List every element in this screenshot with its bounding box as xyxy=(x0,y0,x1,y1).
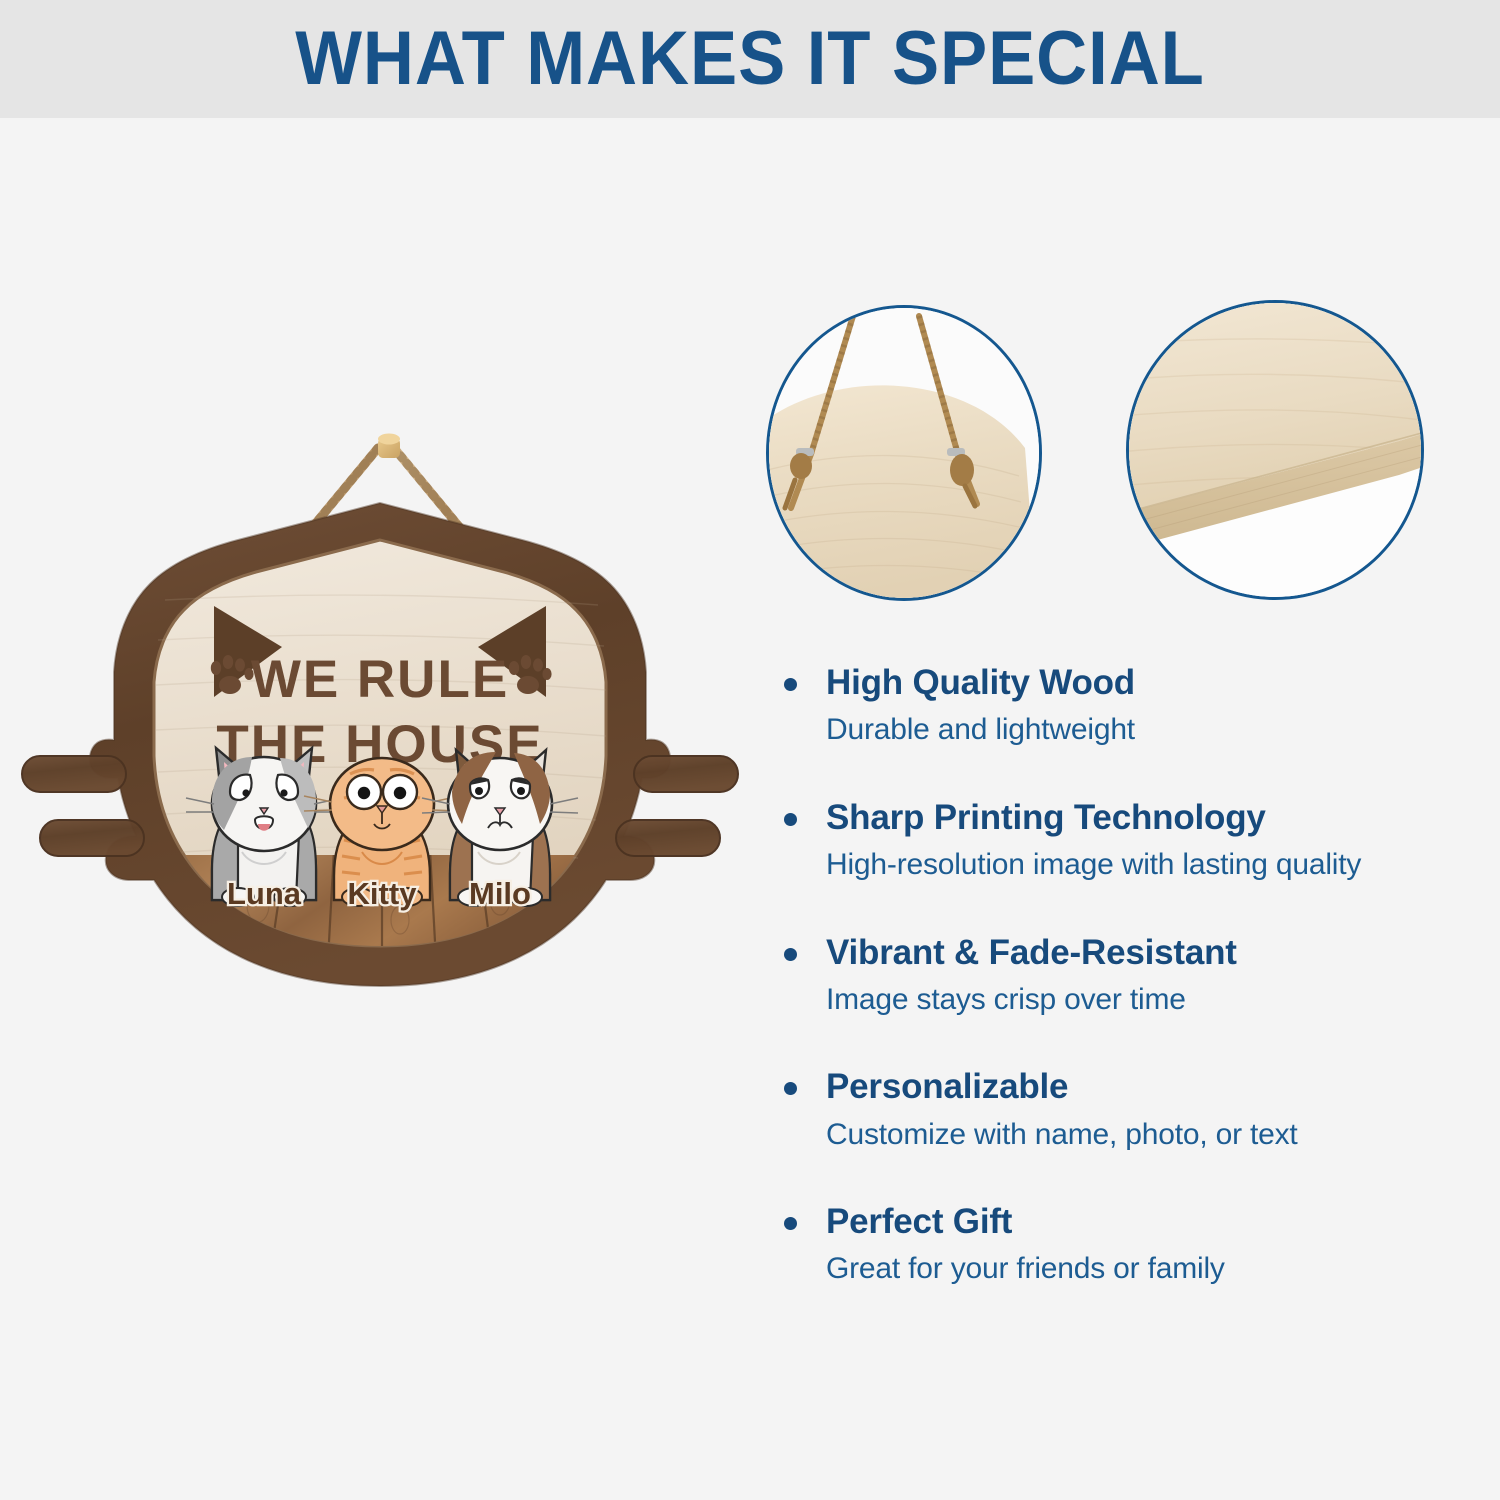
rope-hanger-photo xyxy=(769,308,1042,601)
feature-item: High Quality Wood Durable and lightweigh… xyxy=(770,662,1470,751)
feature-title: Sharp Printing Technology xyxy=(826,797,1470,838)
detail-photo-wood-edge xyxy=(1126,300,1424,600)
pet-name-labels: Luna Kitty Milo xyxy=(227,876,531,911)
wooden-peg-icon xyxy=(378,434,400,459)
feature-title: Vibrant & Fade-Resistant xyxy=(826,932,1470,973)
bullet-icon xyxy=(784,1217,797,1230)
knot-right xyxy=(950,454,974,486)
detail-photo-rope-hanger xyxy=(766,305,1042,601)
feature-title: High Quality Wood xyxy=(826,662,1470,703)
sign-headline-line1: WE RULE xyxy=(251,650,509,709)
pet-name-luna: Luna xyxy=(227,876,302,911)
feature-title: Personalizable xyxy=(826,1066,1470,1107)
header-banner: WHAT MAKES IT SPECIAL xyxy=(0,0,1500,118)
feature-item: Perfect Gift Great for your friends or f… xyxy=(770,1201,1470,1290)
pet-name-kitty: Kitty xyxy=(348,876,418,911)
sign-illustration: WE RULE THE HOUSE xyxy=(0,400,760,1120)
bullet-icon xyxy=(784,813,797,826)
feature-subtitle: Durable and lightweight xyxy=(826,710,1470,751)
bullet-icon xyxy=(784,1082,797,1095)
feature-subtitle: Great for your friends or family xyxy=(826,1249,1470,1290)
feature-item: Personalizable Customize with name, phot… xyxy=(770,1066,1470,1155)
feature-title: Perfect Gift xyxy=(826,1201,1470,1242)
bullet-icon xyxy=(784,678,797,691)
feature-item: Sharp Printing Technology High-resolutio… xyxy=(770,797,1470,886)
feature-subtitle: Customize with name, photo, or text xyxy=(826,1115,1470,1156)
knot-left xyxy=(790,453,812,479)
bullet-icon xyxy=(784,948,797,961)
page-title: WHAT MAKES IT SPECIAL xyxy=(295,21,1205,97)
product-sign: WE RULE THE HOUSE xyxy=(0,400,760,1120)
feature-list: High Quality Wood Durable and lightweigh… xyxy=(770,662,1470,1290)
feature-subtitle: High-resolution image with lasting quali… xyxy=(826,845,1470,886)
detail-photo-group xyxy=(750,295,1450,615)
wood-edge-photo xyxy=(1129,303,1424,600)
feature-subtitle: Image stays crisp over time xyxy=(826,980,1470,1021)
feature-item: Vibrant & Fade-Resistant Image stays cri… xyxy=(770,932,1470,1021)
pet-name-milo: Milo xyxy=(469,876,531,911)
